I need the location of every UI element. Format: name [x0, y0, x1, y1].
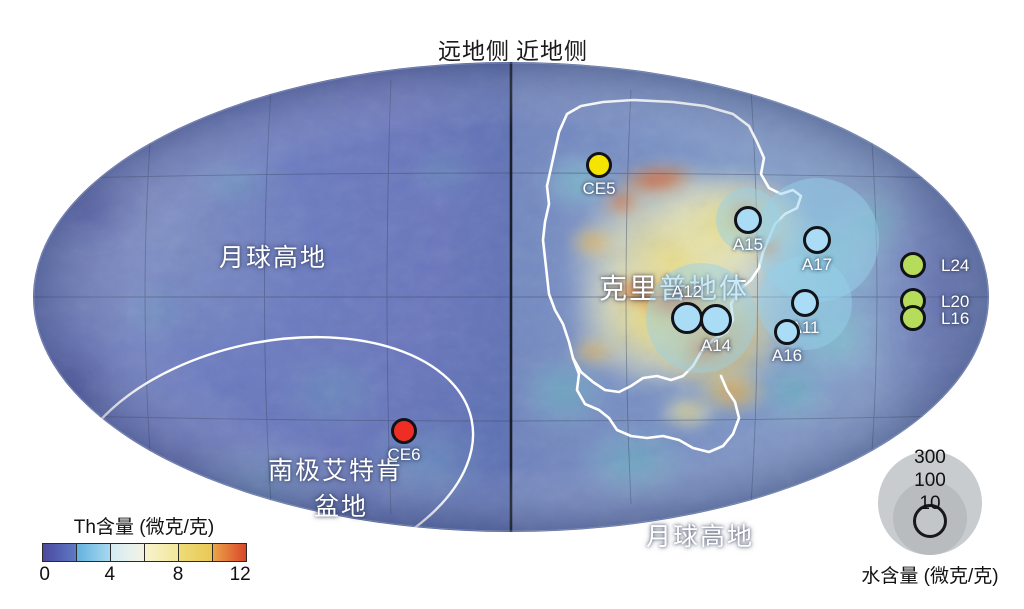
figure-canvas: 远地侧 近地侧 — [0, 0, 1024, 609]
th-colorbar-ticks: 04812 — [42, 564, 247, 588]
water-legend-rings: 300 100 10 — [870, 450, 990, 555]
site-label-a17: A17 — [802, 255, 832, 275]
th-colorbar-segment-3 — [145, 544, 179, 561]
th-colorbar-segment-1 — [77, 544, 111, 561]
site-label-a12: A12 — [672, 282, 702, 302]
water-ring-label-10: 10 — [919, 494, 940, 513]
site-marker-l24[interactable] — [900, 252, 926, 278]
near-side-label: 近地侧 — [516, 32, 588, 66]
far-side-label: 远地侧 — [438, 32, 510, 66]
site-marker-a16[interactable] — [774, 319, 800, 345]
site-marker-ce5[interactable] — [586, 152, 612, 178]
th-colorbar-segment-2 — [111, 544, 145, 561]
th-tick-4: 4 — [104, 564, 115, 586]
th-colorbar — [42, 543, 247, 562]
water-legend-title: 水含量 (微克/克) — [855, 561, 1005, 588]
th-legend-title: Th含量 (微克/克) — [38, 512, 250, 539]
site-marker-l16[interactable] — [900, 305, 926, 331]
site-marker-a17[interactable] — [803, 226, 831, 254]
site-marker-ce6[interactable] — [391, 418, 417, 444]
site-label-l16: L16 — [941, 309, 969, 329]
water-content-legend: 300 100 10 水含量 (微克/克) — [855, 450, 1005, 588]
th-colorbar-segment-0 — [43, 544, 77, 561]
th-tick-0: 0 — [39, 564, 50, 586]
site-label-ce5: CE5 — [582, 179, 615, 199]
th-colorbar-segment-5 — [213, 544, 246, 561]
site-marker-a14[interactable] — [700, 304, 732, 336]
site-label-a15: A15 — [733, 235, 763, 255]
site-label-ce6: CE6 — [387, 445, 420, 465]
site-label-a14: A14 — [701, 336, 731, 356]
site-label-a16: A16 — [772, 346, 802, 366]
water-ring-label-100: 100 — [914, 471, 946, 490]
site-marker-a12[interactable] — [671, 302, 703, 334]
th-colorbar-segment-4 — [179, 544, 213, 561]
site-label-l24: L24 — [941, 256, 969, 276]
site-marker-a11[interactable] — [791, 289, 819, 317]
site-marker-a15[interactable] — [734, 206, 762, 234]
th-tick-12: 12 — [230, 564, 251, 586]
th-tick-8: 8 — [173, 564, 184, 586]
th-colorbar-legend: Th含量 (微克/克) 04812 — [38, 512, 250, 588]
water-ring-label-300: 300 — [914, 448, 946, 467]
